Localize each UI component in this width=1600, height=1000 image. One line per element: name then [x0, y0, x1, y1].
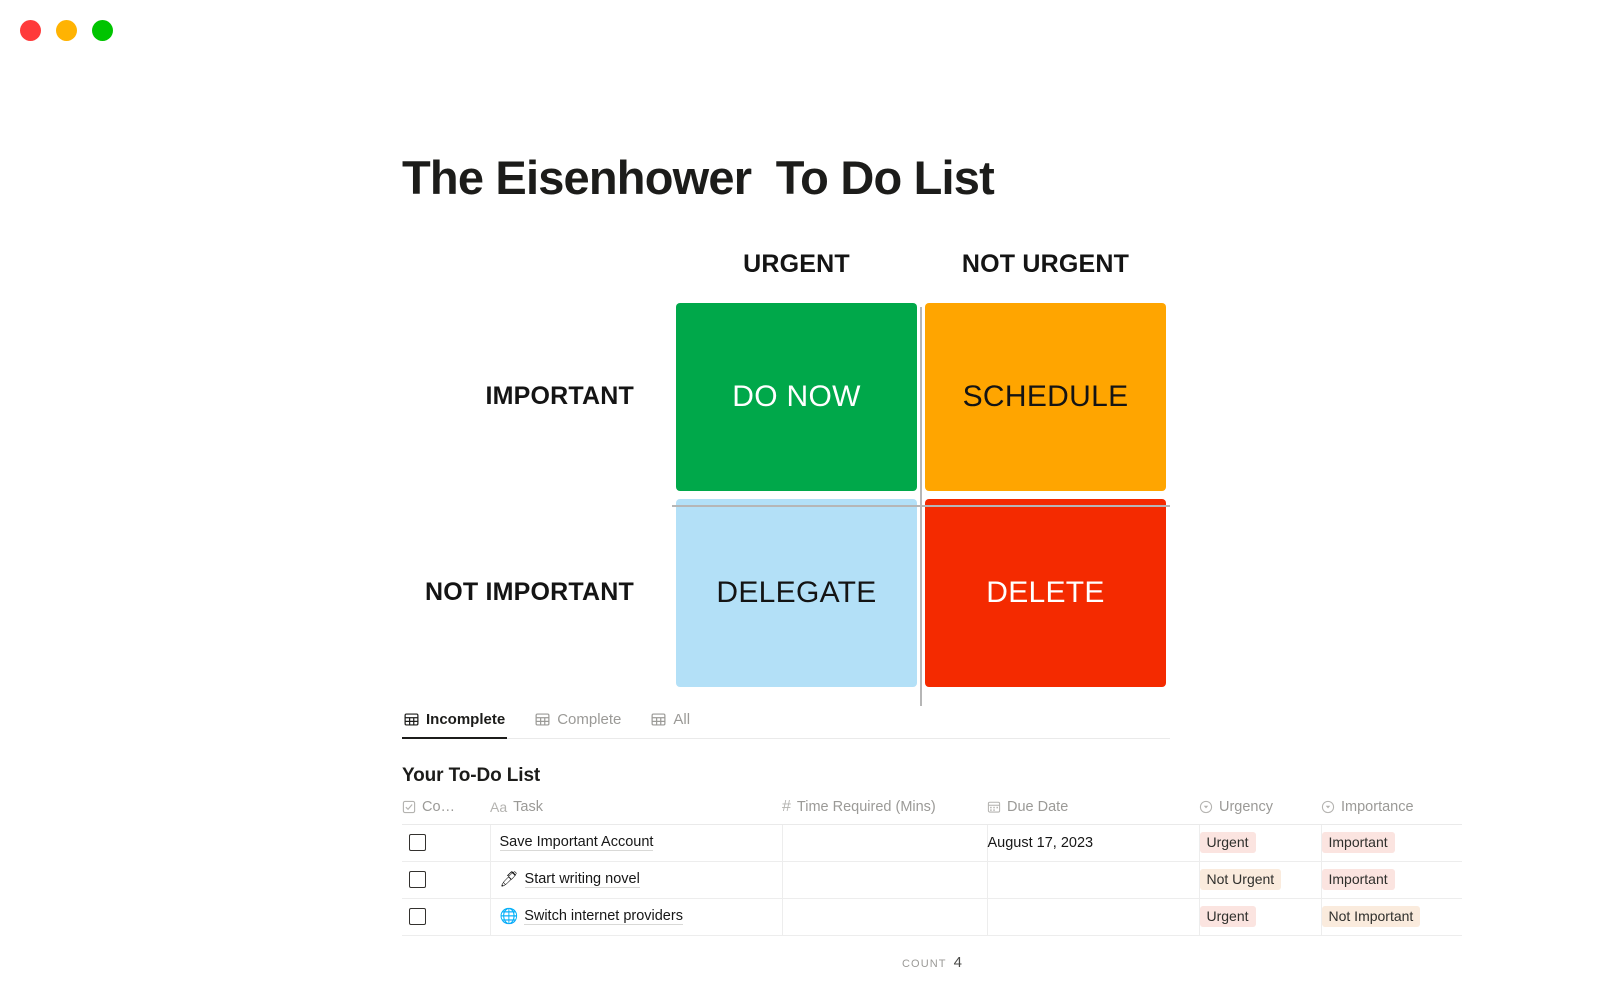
tab-label: All	[673, 711, 690, 728]
minimize-window-button[interactable]	[56, 20, 77, 41]
cell-task: 🌐Switch internet providers	[490, 898, 782, 935]
checkbox-icon	[402, 800, 416, 814]
page-content: The Eisenhower To Do List URGENT NOT URG…	[0, 152, 1600, 971]
table-icon	[535, 712, 550, 727]
row-checkbox[interactable]	[409, 871, 426, 888]
calendar-icon	[987, 800, 1001, 814]
cell-importance[interactable]: Not Important	[1321, 898, 1462, 935]
todo-table: Co… Aa Task # Time Required (Mins)	[402, 799, 1462, 936]
matrix-cell-do-now: DO NOW	[672, 299, 921, 495]
quadrant-delegate[interactable]: DELEGATE	[676, 499, 917, 687]
count-value: 4	[954, 954, 962, 971]
column-header-urgency[interactable]: Urgency	[1199, 799, 1321, 825]
close-window-button[interactable]	[20, 20, 41, 41]
matrix-cell-schedule: SCHEDULE	[921, 299, 1170, 495]
select-circle-icon	[1321, 800, 1335, 814]
task-title-link[interactable]: Save Important Account	[500, 834, 654, 851]
cell-importance[interactable]: Important	[1321, 824, 1462, 861]
table-row[interactable]: 🖊Start writing novelNot UrgentImportant	[402, 861, 1462, 898]
cell-complete	[402, 824, 490, 861]
table-count-footer: COUNT 4	[402, 954, 1462, 971]
row-checkbox[interactable]	[409, 834, 426, 851]
status-badge: Urgent	[1200, 906, 1256, 927]
matrix-horizontal-divider	[672, 505, 1170, 507]
column-header-time-required[interactable]: # Time Required (Mins)	[782, 799, 987, 825]
column-header-label: Importance	[1341, 799, 1414, 815]
cell-time-required[interactable]	[782, 824, 987, 861]
matrix-column-headers: URGENT NOT URGENT	[402, 250, 1170, 299]
column-header-label: Due Date	[1007, 799, 1068, 815]
cell-urgency[interactable]: Urgent	[1199, 898, 1321, 935]
cell-time-required[interactable]	[782, 898, 987, 935]
column-header-label: Urgency	[1219, 799, 1273, 815]
cell-complete	[402, 898, 490, 935]
maximize-window-button[interactable]	[92, 20, 113, 41]
quadrant-delete[interactable]: DELETE	[925, 499, 1166, 687]
column-header-due-date[interactable]: Due Date	[987, 799, 1199, 825]
cell-due-date[interactable]	[987, 861, 1199, 898]
select-circle-icon	[1199, 800, 1213, 814]
cell-due-date[interactable]: August 17, 2023	[987, 824, 1199, 861]
cell-urgency[interactable]: Urgent	[1199, 824, 1321, 861]
quadrant-do-now[interactable]: DO NOW	[676, 303, 917, 491]
matrix-column-header-not-urgent: NOT URGENT	[921, 250, 1170, 299]
window-titlebar	[0, 0, 1600, 60]
task-title-link[interactable]: Start writing novel	[525, 871, 640, 888]
quadrant-schedule[interactable]: SCHEDULE	[925, 303, 1166, 491]
cell-complete	[402, 861, 490, 898]
aa-text-icon: Aa	[490, 799, 507, 815]
tab-all[interactable]: All	[649, 707, 692, 739]
table-body: Save Important AccountAugust 17, 2023Urg…	[402, 824, 1462, 935]
column-header-label: Time Required (Mins)	[797, 799, 936, 815]
task-title-link[interactable]: Switch internet providers	[524, 908, 683, 925]
tab-incomplete[interactable]: Incomplete	[402, 707, 507, 739]
status-badge: Not Important	[1322, 906, 1421, 927]
cell-time-required[interactable]	[782, 861, 987, 898]
table-row[interactable]: 🌐Switch internet providersUrgentNot Impo…	[402, 898, 1462, 935]
cell-task: Save Important Account	[490, 824, 782, 861]
column-header-task[interactable]: Aa Task	[490, 799, 782, 825]
matrix-grid: IMPORTANT DO NOW SCHEDULE NOT IMPORTANT …	[402, 299, 1170, 691]
matrix-cell-delete: DELETE	[921, 495, 1170, 691]
column-header-label: Task	[513, 799, 543, 815]
column-header-complete[interactable]: Co…	[402, 799, 490, 825]
list-title: Your To-Do List	[402, 765, 1600, 787]
table-header-row: Co… Aa Task # Time Required (Mins)	[402, 799, 1462, 825]
eisenhower-matrix: URGENT NOT URGENT IMPORTANT DO NOW SCHED…	[402, 250, 1170, 691]
status-badge: Important	[1322, 869, 1395, 890]
cell-due-date[interactable]	[987, 898, 1199, 935]
status-badge: Important	[1322, 832, 1395, 853]
row-checkbox[interactable]	[409, 908, 426, 925]
tab-label: Complete	[557, 711, 621, 728]
view-tabs: Incomplete Complete	[402, 707, 1170, 739]
table-row[interactable]: Save Important AccountAugust 17, 2023Urg…	[402, 824, 1462, 861]
matrix-column-header-urgent: URGENT	[672, 250, 921, 299]
table-icon	[651, 712, 666, 727]
cell-urgency[interactable]: Not Urgent	[1199, 861, 1321, 898]
status-badge: Urgent	[1200, 832, 1256, 853]
tab-complete[interactable]: Complete	[533, 707, 623, 739]
count-label: COUNT	[902, 958, 947, 970]
matrix-row-header-important: IMPORTANT	[402, 299, 672, 495]
page-title: The Eisenhower To Do List	[402, 152, 1600, 204]
status-badge: Not Urgent	[1200, 869, 1282, 890]
task-emoji-icon: 🖊	[500, 872, 519, 887]
table-icon	[404, 712, 419, 727]
hash-number-icon: #	[782, 799, 791, 815]
column-header-importance[interactable]: Importance	[1321, 799, 1462, 825]
matrix-row-header-not-important: NOT IMPORTANT	[402, 495, 672, 691]
cell-importance[interactable]: Important	[1321, 861, 1462, 898]
window-controls	[20, 20, 113, 41]
matrix-cell-delegate: DELEGATE	[672, 495, 921, 691]
tab-label: Incomplete	[426, 711, 505, 728]
task-emoji-icon: 🌐	[500, 909, 519, 924]
column-header-label: Co…	[422, 799, 455, 815]
cell-task: 🖊Start writing novel	[490, 861, 782, 898]
table-header: Co… Aa Task # Time Required (Mins)	[402, 799, 1462, 825]
